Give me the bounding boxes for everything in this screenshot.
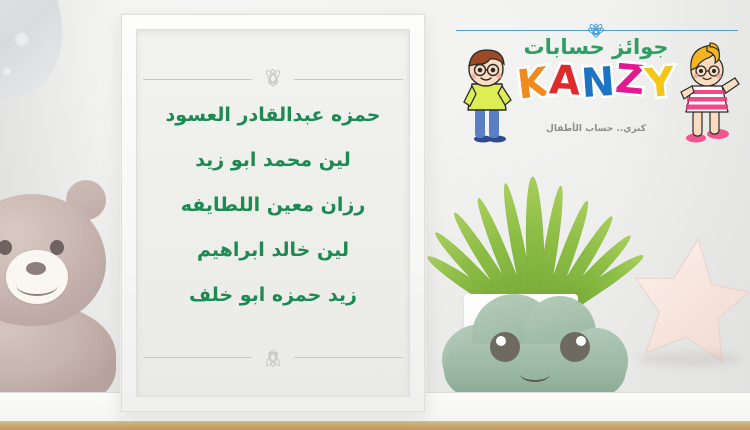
cloud-eye-glint-left — [496, 336, 506, 346]
fleuron-glyph — [252, 346, 294, 368]
cloud-smile — [520, 366, 550, 382]
wordmark-letter-n: N — [580, 64, 616, 103]
winner-name: زيد حمزه ابو خلف — [145, 286, 401, 305]
star-shape-icon — [628, 228, 750, 368]
shelf-wooden-edge — [0, 421, 750, 430]
wordmark-letter-z: Z — [614, 61, 646, 100]
wordmark-letter-a: A — [548, 62, 581, 100]
winner-name: لين محمد ابو زيد — [145, 151, 401, 170]
corner-decor-dot — [0, 65, 13, 78]
star-pillow — [628, 228, 750, 368]
winner-name: لين خالد ابراهيم — [145, 241, 401, 260]
kanzy-wordmark: K A N Z Y — [517, 64, 674, 101]
winner-names-list: حمزه عبدالقادر العسود لين محمد ابو زيد ر… — [145, 106, 401, 305]
winner-name: حمزه عبدالقادر العسود — [145, 106, 401, 125]
star-pillow-shadow — [638, 352, 742, 366]
corner-decor-dot — [12, 30, 31, 49]
cloud-eye-left — [490, 332, 520, 362]
scene-root: حمزه عبدالقادر العسود لين محمد ابو زيد ر… — [0, 0, 750, 430]
divider-rule-right — [294, 357, 403, 358]
fleuron-divider-icon — [143, 346, 403, 368]
wordmark-letter-y: Y — [644, 64, 676, 103]
cloud-planter-group — [440, 148, 630, 420]
teddy-smile — [16, 274, 58, 296]
divider-rule-left — [143, 79, 252, 80]
picture-frame: حمزه عبدالقادر العسود لين محمد ابو زيد ر… — [120, 13, 426, 413]
fleuron-glyph — [252, 68, 294, 90]
fleuron-divider-icon — [143, 68, 403, 90]
teddy-bear-plush — [0, 178, 130, 394]
divider-rule-right — [294, 79, 403, 80]
logo-tagline: كنزي.. حساب الأطفال — [448, 124, 744, 134]
winner-name: رزان معين اللطايفه — [145, 196, 401, 215]
cloud-eye-right — [560, 332, 590, 362]
cloud-cushion — [442, 276, 628, 396]
wordmark-letter-k: K — [515, 64, 550, 104]
divider-rule-left — [143, 357, 252, 358]
cloud-eye-glint-right — [576, 336, 586, 346]
kanzy-logo-block: جوائز حسابات — [448, 12, 744, 140]
